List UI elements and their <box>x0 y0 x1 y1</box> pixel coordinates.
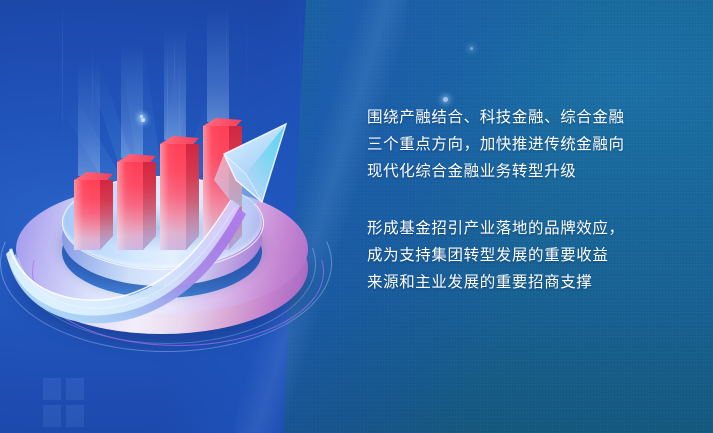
banner-slide: 围绕产融结合、科技金融、综合金融 三个重点方向，加快推进传统金融向 现代化综合金… <box>0 0 713 433</box>
paragraph-2-line-2: 成为支持集团转型发展的重要收益 <box>367 242 687 269</box>
copy-block: 围绕产融结合、科技金融、综合金融 三个重点方向，加快推进传统金融向 现代化综合金… <box>367 104 687 296</box>
paragraph-2-line-3: 来源和主业发展的重要招商支撑 <box>367 269 687 296</box>
growth-chart-illustration <box>0 108 330 348</box>
paragraph-1-line-3: 现代化综合金融业务转型升级 <box>367 158 687 185</box>
decor-square <box>43 405 61 427</box>
decor-square <box>43 378 61 400</box>
paragraph-2: 形成基金招引产业落地的品牌效应， 成为支持集团转型发展的重要收益 来源和主业发展… <box>367 215 687 296</box>
decor-square <box>66 405 84 427</box>
paragraph-2-line-1: 形成基金招引产业落地的品牌效应， <box>367 215 687 242</box>
glow-dot <box>443 97 448 102</box>
paragraph-1: 围绕产融结合、科技金融、综合金融 三个重点方向，加快推进传统金融向 现代化综合金… <box>367 104 687 185</box>
paragraph-1-line-2: 三个重点方向，加快推进传统金融向 <box>367 131 687 158</box>
glow-dot <box>470 47 473 50</box>
growth-arrow <box>0 108 330 348</box>
paragraph-1-line-1: 围绕产融结合、科技金融、综合金融 <box>367 104 687 131</box>
bar-glow <box>207 8 229 122</box>
decor-square <box>66 378 84 400</box>
